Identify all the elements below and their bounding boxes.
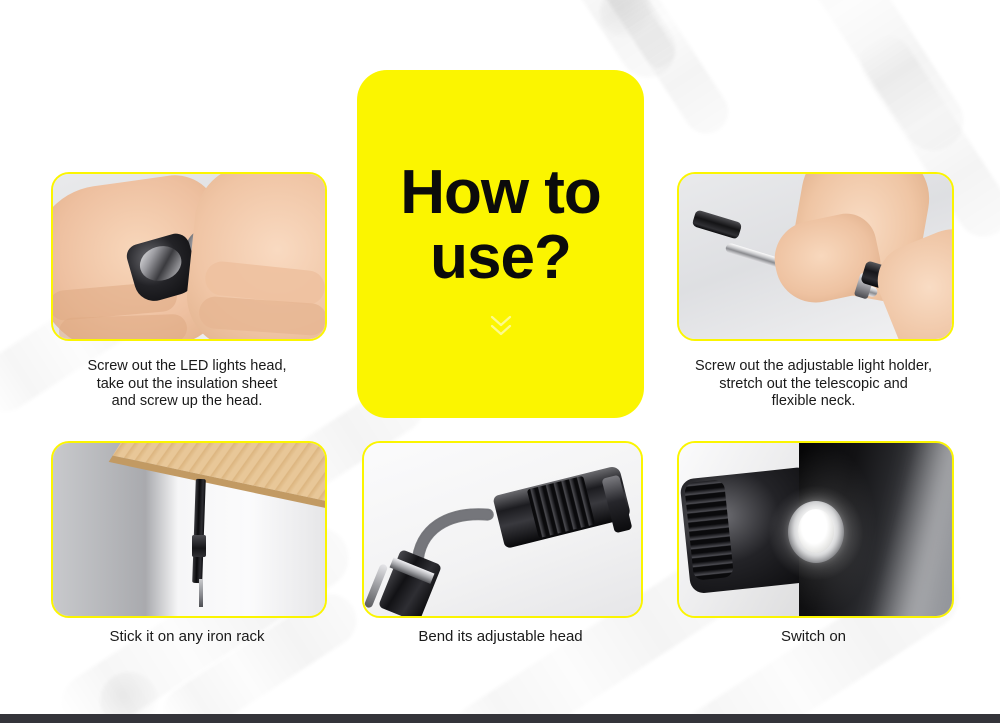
step-1-caption: Screw out the LED lights head, take out … <box>36 358 338 411</box>
flashlight-watermark <box>761 0 975 162</box>
caption-line: and screw up the head. <box>36 393 338 411</box>
step-4-photo <box>364 443 641 616</box>
caption-line: stretch out the telescopic and <box>662 376 965 394</box>
step-5-image-card <box>677 441 954 618</box>
page-title-line-2: use? <box>376 225 626 290</box>
page-title-line-1: How to <box>376 160 626 225</box>
double-chevron-down-icon <box>488 314 514 343</box>
step-4-image-card <box>362 441 643 618</box>
light-sweep <box>851 443 952 616</box>
caption-line: flexible neck. <box>662 393 965 411</box>
finger <box>59 314 188 339</box>
step-1-photo <box>53 174 325 339</box>
caption-line: Bend its adjustable head <box>362 628 639 646</box>
step-5-photo <box>679 443 952 616</box>
how-to-use-infographic: How to use? Scr <box>0 0 1000 723</box>
step-1-image-card <box>51 172 327 341</box>
tool-clip <box>192 535 206 557</box>
led-emitter <box>798 509 834 553</box>
page-title: How to use? <box>376 160 626 290</box>
step-2-caption: Screw out the adjustable light holder, s… <box>662 358 965 411</box>
caption-line: Screw out the adjustable light holder, <box>662 358 965 376</box>
caption-line: Stick it on any iron rack <box>51 628 323 646</box>
step-3-photo <box>53 443 325 616</box>
flashlight-head-watermark <box>600 0 652 38</box>
step-2-photo <box>679 174 952 339</box>
step-4-caption: Bend its adjustable head <box>362 628 639 646</box>
footer-bar <box>0 714 1000 723</box>
step-2-image-card <box>677 172 954 341</box>
step-3-image-card <box>51 441 327 618</box>
tool-tip <box>199 579 203 607</box>
hero-panel: How to use? <box>357 70 644 418</box>
step-3-caption: Stick it on any iron rack <box>51 628 323 646</box>
cap-reflector <box>136 241 186 285</box>
caption-line: take out the insulation sheet <box>36 376 338 394</box>
flashlight-watermark <box>590 0 681 73</box>
step-5-caption: Switch on <box>677 628 950 646</box>
caption-line: Screw out the LED lights head, <box>36 358 338 376</box>
caption-line: Switch on <box>677 628 950 646</box>
